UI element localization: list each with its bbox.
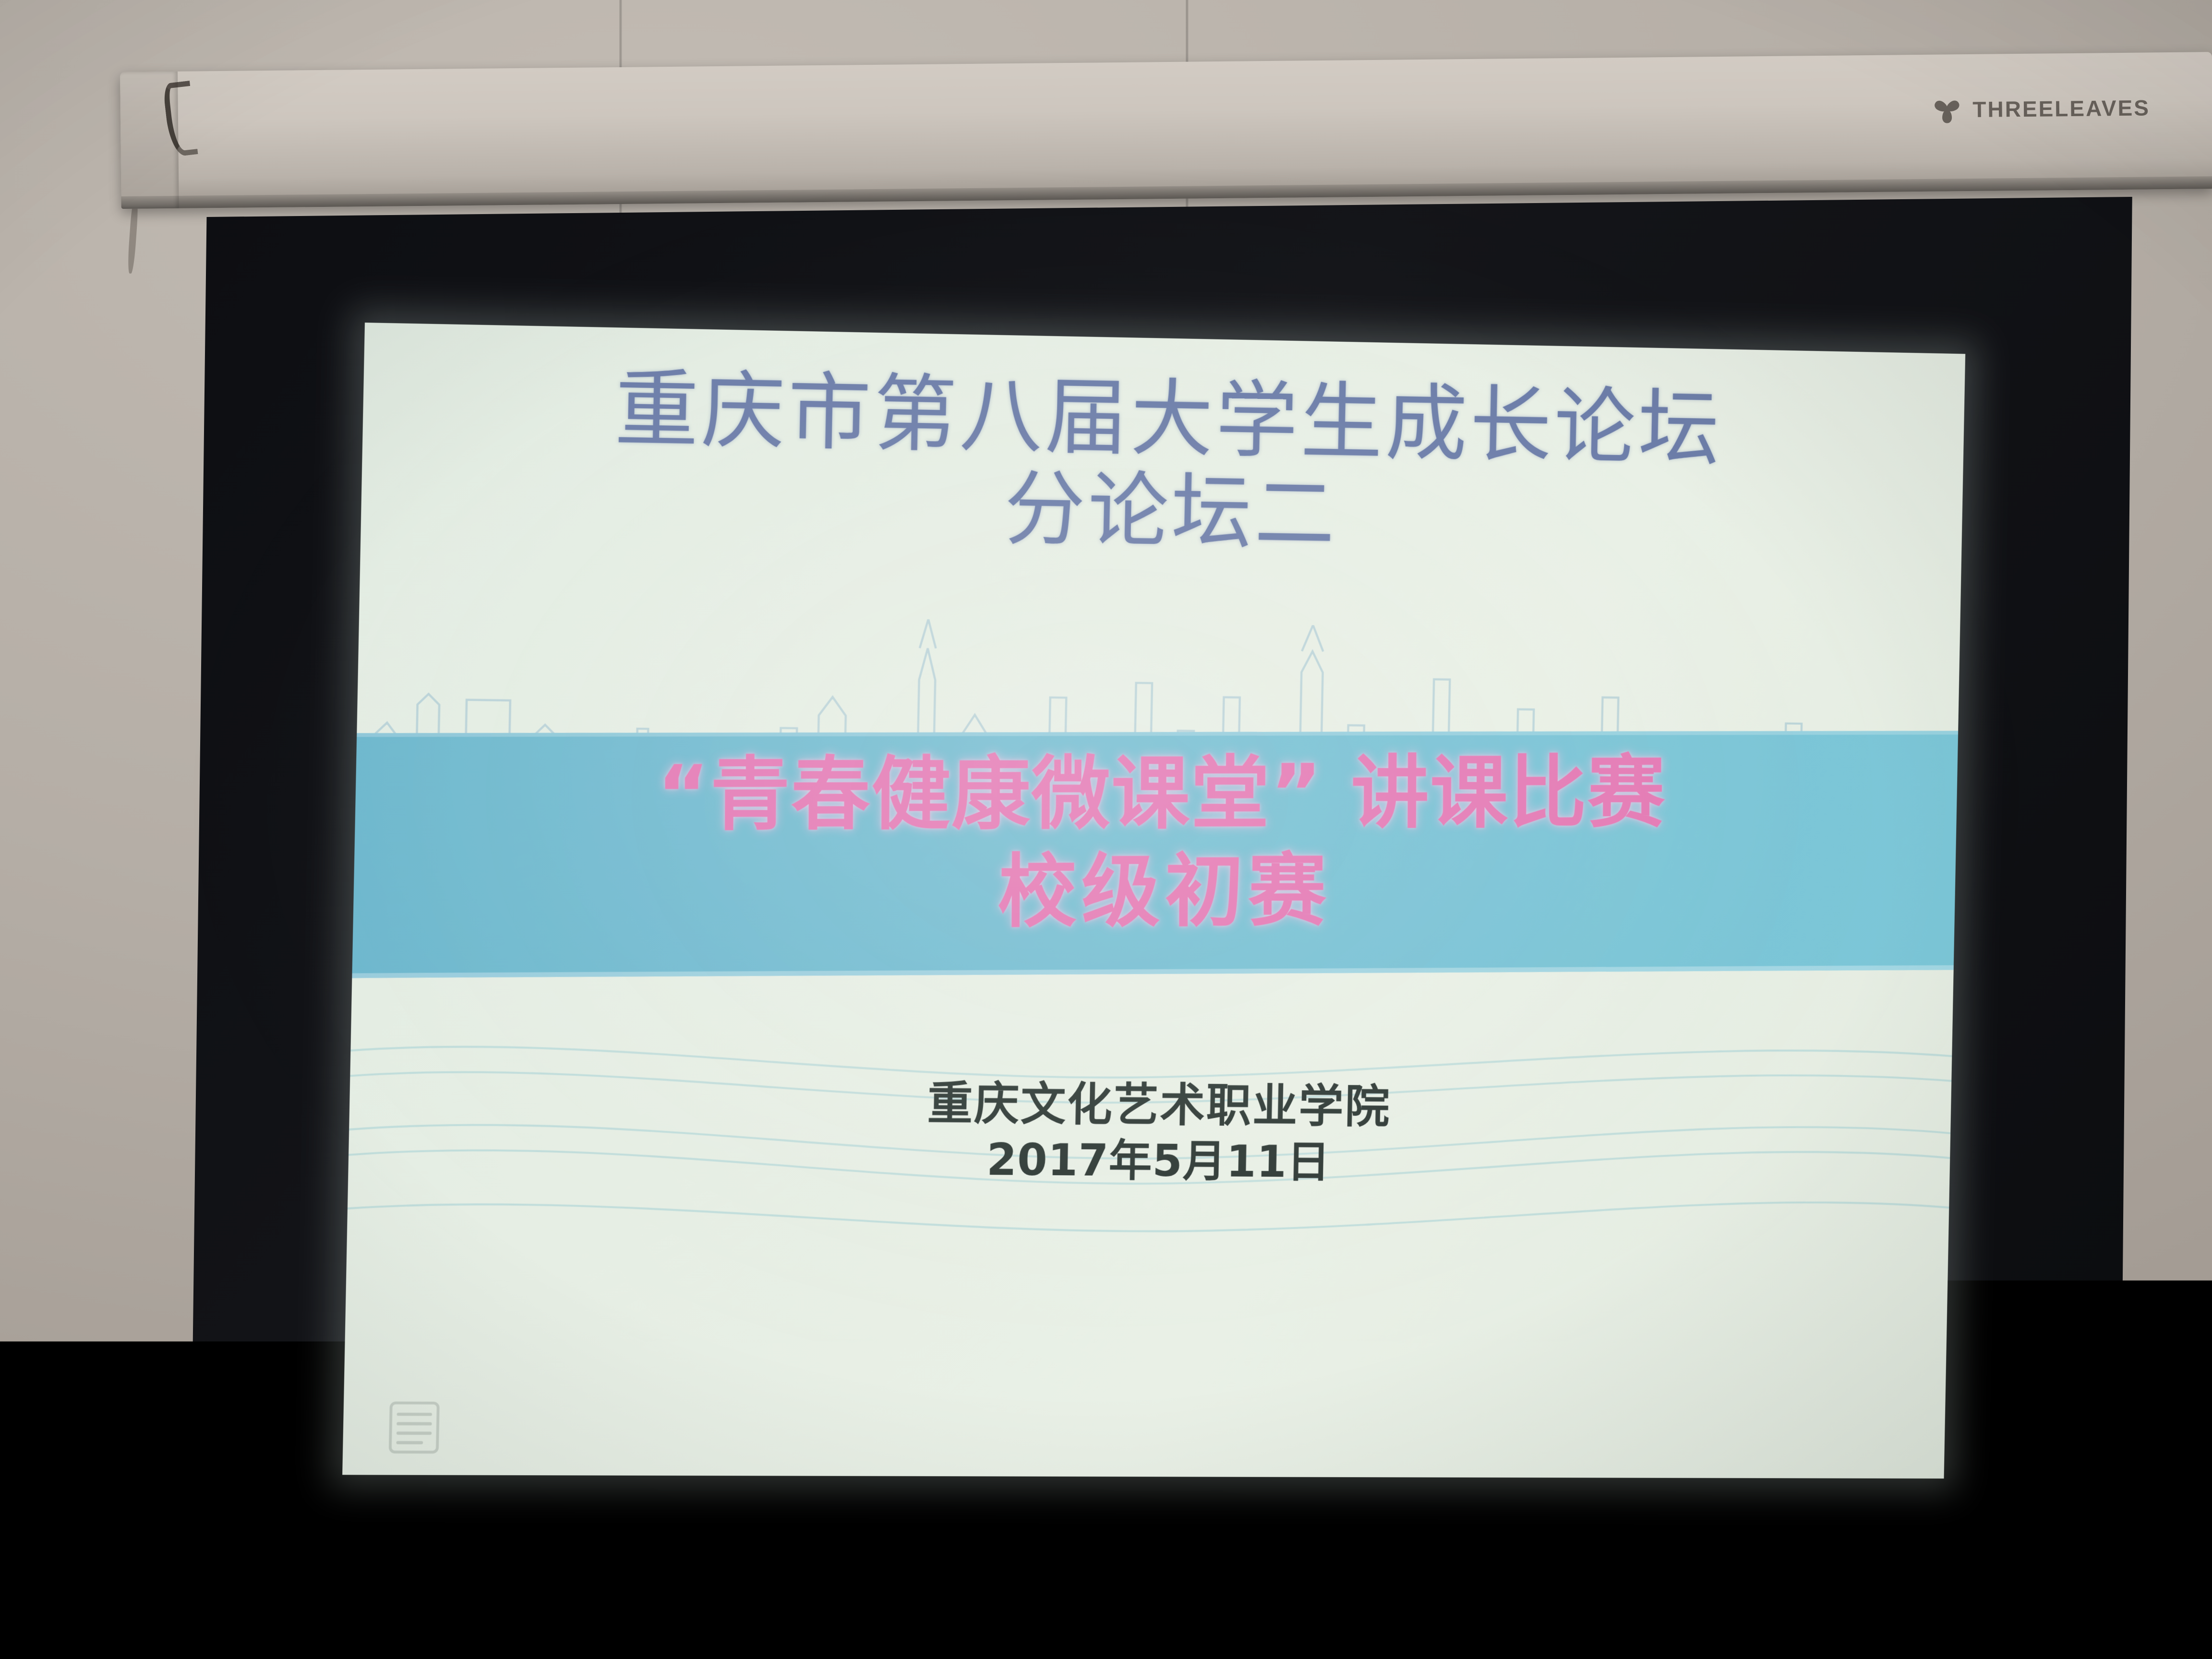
slide-banner-line2: 校级初赛 — [354, 844, 1956, 940]
band-bottom-edge — [342, 965, 1965, 978]
projector-screen-housing[interactable]: THREELEAVES — [120, 52, 2212, 209]
slide-title-block: 重庆市第八届大学生成长论坛 分论坛二 — [361, 360, 1965, 570]
slide-banner-line1: “青春健康微课堂” 讲课比赛 — [355, 748, 1957, 841]
slide-footer-date: 2017年5月11日 — [348, 1129, 1950, 1193]
room-scene: THREELEAVES 重庆市第八届大学生成长论坛 分论坛二 — [0, 0, 2212, 1659]
slide-banner-block: “青春健康微课堂” 讲课比赛 校级初赛 — [354, 748, 1957, 940]
three-leaf-trefoil-icon — [1932, 96, 1962, 123]
housing-brand: THREELEAVES — [1932, 95, 2150, 122]
housing-brand-label: THREELEAVES — [1972, 95, 2150, 122]
slide-footer-block: 重庆文化艺术职业学院 2017年5月11日 — [348, 1071, 1951, 1193]
projected-slide: 重庆市第八届大学生成长论坛 分论坛二 “青春健康微课堂” 讲课比赛 校级初赛 — [342, 323, 1965, 1479]
document-lines-icon — [387, 1400, 442, 1459]
